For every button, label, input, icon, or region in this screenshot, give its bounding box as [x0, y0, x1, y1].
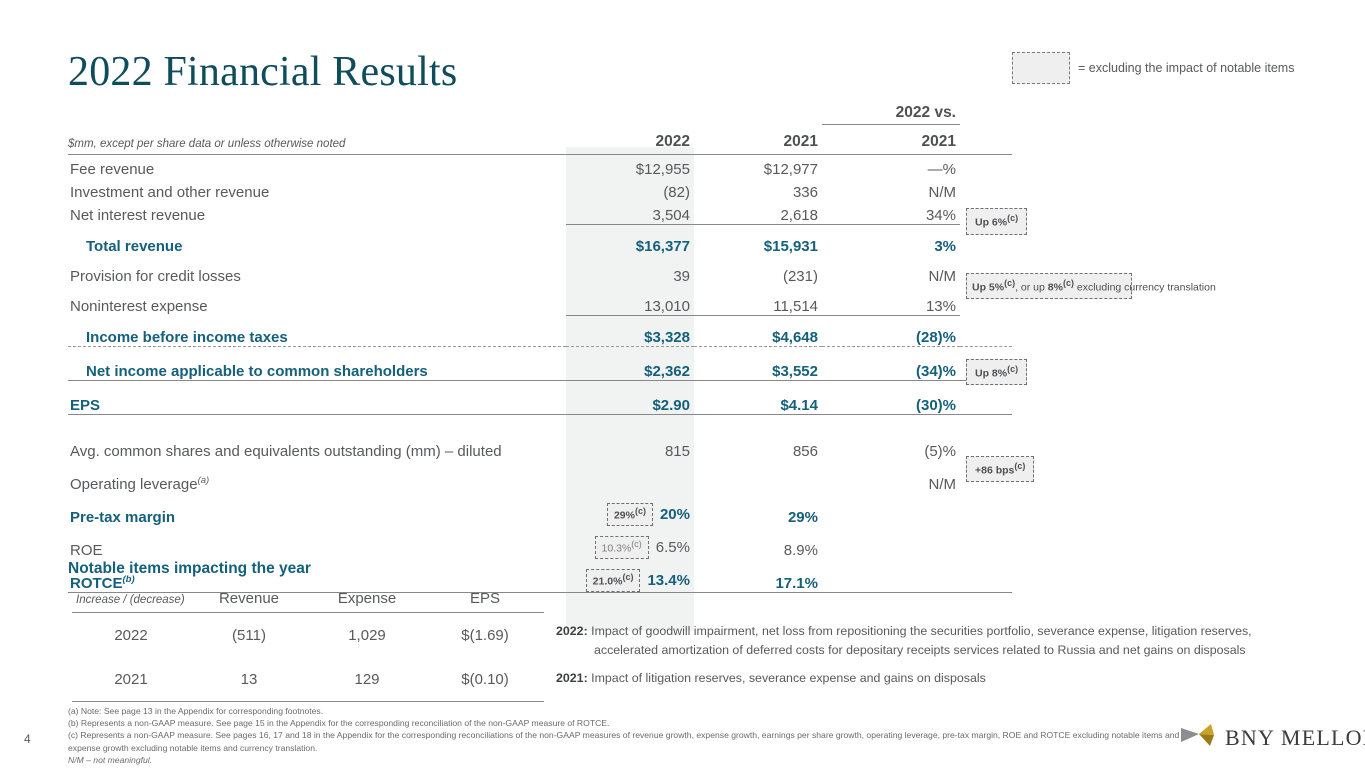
- notable-header-row: Increase / (decrease) Revenue Expense EP…: [72, 590, 544, 613]
- header-vs-2021: 2021: [822, 125, 960, 154]
- notable-row: 2021 13 129 $(0.10): [72, 657, 544, 702]
- row-label: ROTCE(b): [68, 559, 566, 592]
- notable-description-2022: 2022: Impact of goodwill impairment, net…: [556, 622, 1346, 660]
- table-row-net-income: Net income applicable to common sharehol…: [68, 346, 1012, 380]
- table-header-top: 2022 vs.: [68, 100, 1012, 125]
- callout-noninterest-expense: Up 5%(c), or up 8%(c) excluding currency…: [966, 273, 1132, 300]
- callout-eps-cell: Up 8%(c): [960, 380, 1012, 414]
- row-label: Pre-tax margin: [68, 493, 566, 526]
- notable-revenue: 13: [190, 657, 308, 702]
- notable-desc-year: 2022:: [556, 624, 588, 638]
- row-label: Noninterest expense: [68, 285, 566, 316]
- bny-mellon-arrow-icon: [1180, 722, 1216, 753]
- row-value-2022: $16,377: [566, 224, 694, 255]
- table-header-row: $mm, except per share data or unless oth…: [68, 125, 1012, 154]
- table-bottom-rule: [68, 592, 1012, 593]
- table-row: Net interest revenue 3,504 2,618 34%: [68, 201, 1012, 225]
- table-row: Avg. common shares and equivalents outst…: [68, 414, 1012, 460]
- row-value-2022-text: 6.5%: [656, 539, 690, 556]
- row-value-2021: 29%: [694, 493, 822, 526]
- row-value-2022: $2.90: [566, 380, 694, 414]
- row-value-2021: $12,977: [694, 154, 822, 178]
- financial-table-wrapper: 2022 vs. $mm, except per share data or u…: [68, 100, 1012, 593]
- notable-eps: $(1.69): [426, 613, 544, 658]
- row-label: Total revenue: [68, 224, 566, 255]
- spacer: [960, 125, 1012, 154]
- legend-label: = excluding the impact of notable items: [1078, 61, 1294, 75]
- row-value-vs: (28)%: [822, 315, 960, 346]
- table-row-operating-leverage: Operating leverage(a) N/M +86 bps(c): [68, 460, 1012, 493]
- row-value-vs: [822, 559, 960, 592]
- notable-desc-year: 2021:: [556, 671, 588, 685]
- table-row: Fee revenue $12,955 $12,977 —%: [68, 154, 1012, 178]
- row-value-2022: 39: [566, 255, 694, 285]
- page-title: 2022 Financial Results: [68, 48, 457, 96]
- notable-desc-line2: accelerated amortization of deferred cos…: [556, 641, 1346, 660]
- row-value-vs: [822, 526, 960, 559]
- row-value-2022: [566, 460, 694, 493]
- header-2022: 2022: [566, 125, 694, 154]
- row-value-2022: 21.0%(c) 13.4%: [566, 559, 694, 592]
- dashed-box-icon: [1012, 52, 1070, 84]
- table-row-roe: ROE 10.3%(c) 6.5% 8.9%: [68, 526, 1012, 559]
- row-value-vs: [822, 493, 960, 526]
- adjusted-value-box: 21.0%(c): [586, 569, 641, 591]
- row-value-2021: 856: [694, 414, 822, 460]
- notable-expense: 129: [308, 657, 426, 702]
- adjusted-value-box: 29%(c): [607, 503, 653, 525]
- row-label: Operating leverage(a): [68, 460, 566, 493]
- callout-total-revenue-cell: Up 6%(c): [960, 224, 1012, 255]
- row-value-vs: N/M: [822, 178, 960, 201]
- notable-expense: 1,029: [308, 613, 426, 658]
- notable-row: 2022 (511) 1,029 $(1.69): [72, 613, 544, 658]
- slide-root: 2022 Financial Results = excluding the i…: [0, 0, 1365, 768]
- row-label: Fee revenue: [68, 154, 566, 178]
- notable-year: 2021: [72, 657, 190, 702]
- row-value-vs: N/M: [822, 255, 960, 285]
- table-row: Noninterest expense 13,010 11,514 13% Up…: [68, 285, 1012, 316]
- legend: = excluding the impact of notable items: [1012, 52, 1294, 84]
- row-value-vs: N/M: [822, 460, 960, 493]
- row-value-2021: (231): [694, 255, 822, 285]
- row-value-2021: [694, 460, 822, 493]
- row-label: Net income applicable to common sharehol…: [68, 346, 566, 380]
- row-label: ROE: [68, 526, 566, 559]
- notable-revenue: (511): [190, 613, 308, 658]
- table-row-eps: EPS $2.90 $4.14 (30)% Up 8%(c): [68, 380, 1012, 414]
- financial-table: 2022 vs. $mm, except per share data or u…: [68, 100, 1012, 593]
- callout-operating-leverage: +86 bps(c): [966, 456, 1034, 483]
- row-label: Avg. common shares and equivalents outst…: [68, 414, 566, 460]
- row-value-2022: (82): [566, 178, 694, 201]
- header-2021: 2021: [694, 125, 822, 154]
- page-number: 4: [24, 732, 31, 746]
- row-value-2022: 3,504: [566, 201, 694, 225]
- spacer: [68, 100, 566, 125]
- units-note: $mm, except per share data or unless oth…: [68, 125, 566, 154]
- row-value-2021: $4,648: [694, 315, 822, 346]
- notable-col-revenue: Revenue: [190, 590, 308, 613]
- row-label: EPS: [68, 380, 566, 414]
- table-row: Investment and other revenue (82) 336 N/…: [68, 178, 1012, 201]
- notable-description-2021: 2021: Impact of litigation reserves, sev…: [556, 669, 1346, 688]
- row-value-2022-text: 13.4%: [647, 572, 690, 589]
- row-value-2022: $12,955: [566, 154, 694, 178]
- logo-text: BNY MELLON: [1225, 725, 1365, 751]
- row-value-vs: 3%: [822, 224, 960, 255]
- adjusted-value-box: 10.3%(c): [595, 536, 649, 558]
- table-row-pretax-margin: Pre-tax margin 29%(c) 20% 29%: [68, 493, 1012, 526]
- footnote-c: (c) Represents a non-GAAP measure. See p…: [68, 729, 1188, 753]
- row-value-vs: (5)%: [822, 414, 960, 460]
- row-value-2021: $4.14: [694, 380, 822, 414]
- notable-items-table: Increase / (decrease) Revenue Expense EP…: [72, 590, 544, 702]
- callout-operating-leverage-cell: +86 bps(c): [960, 460, 1012, 493]
- row-value-vs: 34%: [822, 201, 960, 225]
- row-value-2021: 11,514: [694, 285, 822, 316]
- notable-year: 2022: [72, 613, 190, 658]
- callout-eps: Up 8%(c): [966, 359, 1027, 386]
- row-value-vs: —%: [822, 154, 960, 178]
- spacer: [960, 100, 1012, 125]
- row-label: Provision for credit losses: [68, 255, 566, 285]
- footnote-a: (a) Note: See page 13 in the Appendix fo…: [68, 705, 1188, 717]
- notable-eps: $(0.10): [426, 657, 544, 702]
- row-value-2021: $3,552: [694, 346, 822, 380]
- row-value-2021: 2,618: [694, 201, 822, 225]
- table-row-rotce: ROTCE(b) 21.0%(c) 13.4% 17.1%: [68, 559, 1012, 592]
- row-value-2022: $3,328: [566, 315, 694, 346]
- row-value-2021: 336: [694, 178, 822, 201]
- footnote-b: (b) Represents a non-GAAP measure. See p…: [68, 717, 1188, 729]
- row-value-2022: 815: [566, 414, 694, 460]
- callout-noninterest-expense-cell: Up 5%(c), or up 8%(c) excluding currency…: [960, 285, 1012, 316]
- row-value-2021: $15,931: [694, 224, 822, 255]
- row-value-2022: 10.3%(c) 6.5%: [566, 526, 694, 559]
- row-value-2021: 17.1%: [694, 559, 822, 592]
- notable-desc-line1: Impact of litigation reserves, severance…: [591, 671, 986, 685]
- row-label: Net interest revenue: [68, 201, 566, 225]
- row-value-2022: 29%(c) 20%: [566, 493, 694, 526]
- brand-logo: BNY MELLON: [1180, 722, 1365, 753]
- notable-descriptions: 2022: Impact of goodwill impairment, net…: [556, 622, 1346, 698]
- footnotes: (a) Note: See page 13 in the Appendix fo…: [68, 705, 1188, 766]
- row-label: Income before income taxes: [68, 315, 566, 346]
- notable-col-expense: Expense: [308, 590, 426, 613]
- row-value-vs: (34)%: [822, 346, 960, 380]
- row-value-vs: 13%: [822, 285, 960, 316]
- notable-desc-line1: Impact of goodwill impairment, net loss …: [591, 624, 1251, 638]
- notable-col-eps: EPS: [426, 590, 544, 613]
- table-row: Provision for credit losses 39 (231) N/M: [68, 255, 1012, 285]
- spacer: [566, 100, 694, 125]
- callout-total-revenue: Up 6%(c): [966, 208, 1027, 235]
- row-value-2022: 13,010: [566, 285, 694, 316]
- row-value-vs: (30)%: [822, 380, 960, 414]
- row-label: Investment and other revenue: [68, 178, 566, 201]
- row-value-2022-text: 20%: [660, 506, 690, 523]
- notable-label-header: Increase / (decrease): [72, 590, 190, 613]
- table-row-income-before-taxes: Income before income taxes $3,328 $4,648…: [68, 315, 1012, 346]
- row-value-2022: $2,362: [566, 346, 694, 380]
- table-row-total-revenue: Total revenue $16,377 $15,931 3% Up 6%(c…: [68, 224, 1012, 255]
- spacer: [694, 100, 822, 125]
- row-value-2021: 8.9%: [694, 526, 822, 559]
- footnote-nm: N/M – not meaningful.: [68, 754, 1188, 766]
- header-2022-vs: 2022 vs.: [822, 100, 960, 125]
